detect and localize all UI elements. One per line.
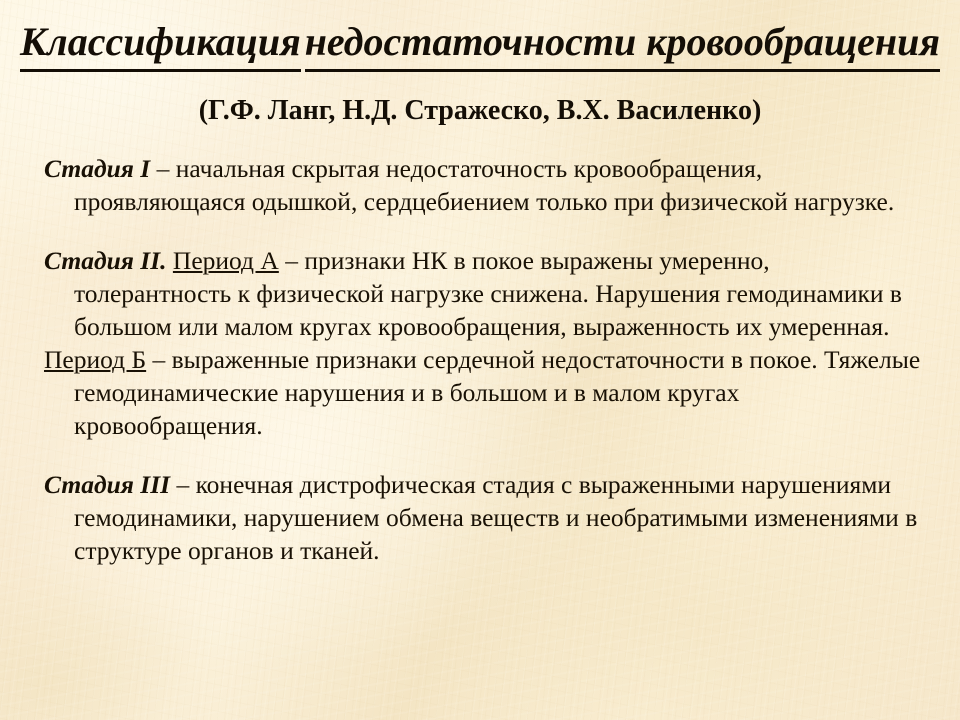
title-line-2: недостаточности кровообращения bbox=[305, 15, 940, 72]
stage-1-label: Стадия I bbox=[44, 154, 150, 183]
slide-title: Классификация недостаточности кровообращ… bbox=[0, 0, 960, 72]
slide-background: Классификация недостаточности кровообращ… bbox=[0, 0, 960, 720]
stage-1-paragraph: Стадия I – начальная скрытая недостаточн… bbox=[44, 152, 932, 218]
stage-3-text: – конечная дистрофическая стадия с выраж… bbox=[74, 470, 917, 565]
stage-2-period-a-label: Период А bbox=[173, 246, 279, 275]
stage-2-paragraph: Стадия II. Период А – признаки НК в поко… bbox=[44, 244, 932, 442]
stage-3-paragraph: Стадия III – конечная дистрофическая ста… bbox=[44, 468, 932, 567]
stage-2-label: Стадия II. bbox=[44, 246, 167, 275]
stage-2-period-b-text: – выраженные признаки сердечной недостат… bbox=[74, 345, 920, 440]
slide-content: Классификация недостаточности кровообращ… bbox=[0, 0, 960, 720]
title-line-1: Классификация bbox=[20, 15, 301, 72]
stage-2-period-b-label: Период Б bbox=[44, 345, 146, 374]
slide-subtitle-authors: (Г.Ф. Ланг, Н.Д. Стражеско, В.Х. Василен… bbox=[0, 94, 960, 128]
stage-3-label: Стадия III bbox=[44, 470, 170, 499]
stage-1-text: – начальная скрытая недостаточность кров… bbox=[74, 154, 894, 216]
stages-list: Стадия I – начальная скрытая недостаточн… bbox=[0, 152, 960, 567]
